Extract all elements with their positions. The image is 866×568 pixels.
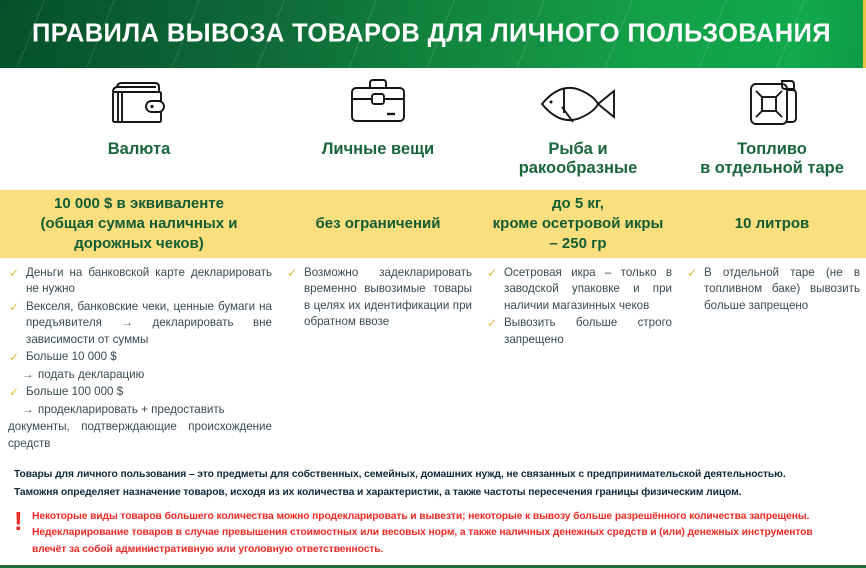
list-item-text: Вывозить больше строго запрещено <box>504 316 672 345</box>
footnote-line-2: Таможня определяет назначение товаров, и… <box>14 486 852 501</box>
list-item: ✓Больше 10 000 $ <box>8 349 272 365</box>
limit-value-fuel: 10 литров <box>678 190 866 258</box>
list-item: ✓Деньги на банковской карте декларироват… <box>8 265 272 298</box>
category-personal-belongings: Личные вещи <box>278 68 478 190</box>
list-sub-item: →подать декларацию <box>8 367 272 383</box>
limit-currency-line-1: 10 000 $ в эквиваленте <box>54 195 224 212</box>
page-title: ПРАВИЛА ВЫВОЗА ТОВАРОВ ДЛЯ ЛИЧНОГО ПОЛЬЗ… <box>32 20 831 49</box>
category-fuel: Топливов отдельной таре <box>678 68 866 190</box>
limits-band: 10 000 $ в эквиваленте (общая сумма нали… <box>0 190 866 258</box>
check-icon: ✓ <box>487 315 497 332</box>
fish-icon <box>536 76 620 132</box>
limit-fish-line-1: до 5 кг, <box>552 195 604 212</box>
list-item: ✓Больше 100 000 $ <box>8 384 272 400</box>
fish-label-line-1: Рыба и <box>548 140 607 158</box>
category-label-currency: Валюта <box>108 140 171 159</box>
warning-line-2: Недекларирование товаров в случае превыш… <box>32 526 813 541</box>
limit-value-currency: 10 000 $ в эквиваленте (общая сумма нали… <box>0 190 278 258</box>
arrow-right-icon: → <box>22 402 34 418</box>
footnote-block: Товары для личного пользования – это пре… <box>0 462 866 506</box>
category-icons-row: Валюта Личные вещи <box>0 68 866 190</box>
list-item-text: Больше 100 000 $ <box>26 385 123 398</box>
warning-text: Некоторые виды товаров большего количест… <box>32 510 813 560</box>
list-item-text: В отдельной таре (не в топливном баке) в… <box>704 266 860 312</box>
fuel-label-line-2: в отдельной таре <box>700 159 844 177</box>
list-item: ✓Осетровая икра – только в заводской упа… <box>486 265 672 314</box>
check-icon: ✓ <box>9 384 19 401</box>
list-item: ✓В отдельной таре (не в топливном баке) … <box>686 265 860 314</box>
category-label-fuel: Топливов отдельной таре <box>700 140 844 178</box>
check-icon: ✓ <box>9 299 19 316</box>
limit-fish-line-2: кроме осетровой икры <box>493 215 664 232</box>
category-currency: Валюта <box>0 68 278 190</box>
list-item: ✓Векселя, банковские чеки, ценные бумаги… <box>8 299 272 348</box>
category-fish: Рыба иракообразные <box>478 68 678 190</box>
limit-currency-line-3: дорожных чеков) <box>74 235 204 252</box>
list-continuation-text: документы, подтверждающие происхождение … <box>8 419 272 452</box>
infographic-poster: ПРАВИЛА ВЫВОЗА ТОВАРОВ ДЛЯ ЛИЧНОГО ПОЛЬЗ… <box>0 0 866 568</box>
category-label-fish: Рыба иракообразные <box>519 140 638 178</box>
warning-line-3: влечёт за собой административную или уго… <box>32 543 813 558</box>
limit-fish-line-3: – 250 гр <box>549 235 606 252</box>
limit-currency-line-2: (общая сумма наличных и <box>41 215 238 232</box>
wallet-icon <box>107 76 171 132</box>
list-sub-item: →продекларировать + предоставить <box>8 402 272 418</box>
fuel-label-line-1: Топливо <box>737 140 807 158</box>
rules-list-personal-belongings: ✓Возможно задекларировать временно вывоз… <box>278 265 478 462</box>
warning-line-1: Некоторые виды товаров большего количест… <box>32 510 813 525</box>
briefcase-icon <box>345 76 411 132</box>
check-icon: ✓ <box>487 265 497 282</box>
limit-value-fish: до 5 кг, кроме осетровой икры – 250 гр <box>478 190 678 258</box>
fuel-can-icon <box>741 76 803 132</box>
category-label-personal-belongings: Личные вещи <box>322 140 434 159</box>
footnote-line-1: Товары для личного пользования – это пре… <box>14 468 852 483</box>
check-icon: ✓ <box>287 265 297 282</box>
rules-list-fuel: ✓В отдельной таре (не в топливном баке) … <box>678 265 866 462</box>
rules-list-fish: ✓Осетровая икра – только в заводской упа… <box>478 265 678 462</box>
list-item: ✓Возможно задекларировать временно вывоз… <box>286 265 472 331</box>
list-sub-item-text: продекларировать + предоставить <box>38 403 225 416</box>
fish-label-line-2: ракообразные <box>519 159 638 177</box>
limit-value-personal-belongings: без ограничений <box>278 190 478 258</box>
list-item-text: Больше 10 000 $ <box>26 350 117 363</box>
list-item-text: Деньги на банковской карте декларировать… <box>26 266 272 295</box>
list-sub-item-text: подать декларацию <box>38 368 144 381</box>
list-item-text: Возможно задекларировать временно вывози… <box>304 266 472 328</box>
exclamation-icon: ! <box>14 510 32 560</box>
list-item-text: Векселя, банковские чеки, ценные бумаги … <box>26 300 272 346</box>
list-item: ✓Вывозить больше строго запрещено <box>486 315 672 348</box>
check-icon: ✓ <box>687 265 697 282</box>
arrow-right-icon: → <box>22 367 34 383</box>
list-item-text: Осетровая икра – только в заводской упак… <box>504 266 672 312</box>
rules-list-currency: ✓Деньги на банковской карте декларироват… <box>0 265 278 462</box>
header-banner: ПРАВИЛА ВЫВОЗА ТОВАРОВ ДЛЯ ЛИЧНОГО ПОЛЬЗ… <box>0 0 866 68</box>
check-icon: ✓ <box>9 349 19 366</box>
rules-lists-row: ✓Деньги на банковской карте декларироват… <box>0 258 866 462</box>
check-icon: ✓ <box>9 265 19 282</box>
warning-block: ! Некоторые виды товаров большего количе… <box>0 506 866 566</box>
